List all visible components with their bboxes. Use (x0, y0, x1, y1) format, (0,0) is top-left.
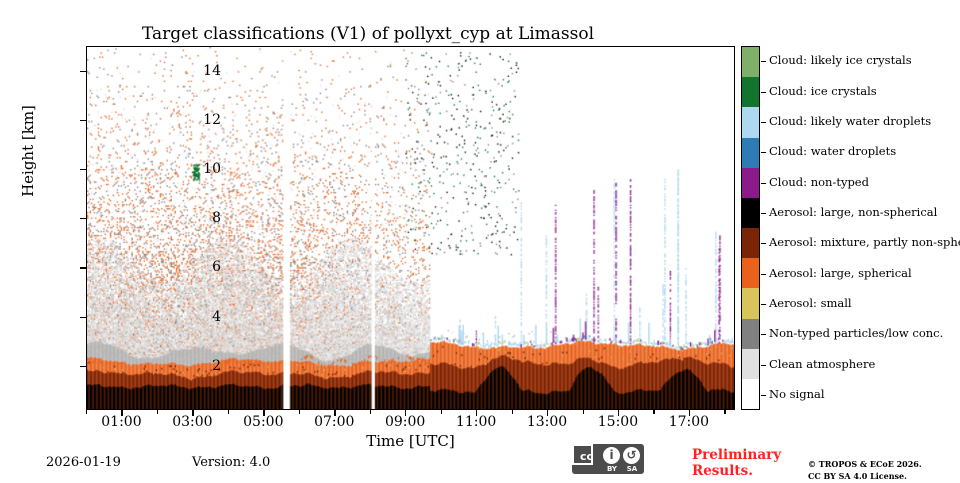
colorbar-segment-11 (742, 379, 759, 409)
cc-by-glyph: i (603, 447, 620, 464)
footer-version: Version: 4.0 (192, 455, 270, 470)
copyright-line-1: © TROPOS & ECoE 2026. (808, 458, 958, 470)
legend-label-0: Cloud: likely ice crystals (769, 55, 912, 67)
y-axis-label: Height [km] (19, 71, 37, 231)
y-tick-mark-14 (80, 71, 86, 72)
cc-sa-label: SA (622, 465, 642, 473)
x-tick-mark-4 (405, 410, 406, 416)
colorbar-segment-5 (742, 198, 759, 228)
colorbar-segment-3 (742, 138, 759, 168)
legend-label-7: Aerosol: large, spherical (769, 268, 912, 280)
legend-label-9: Non-typed particles/low conc. (769, 328, 943, 340)
classification-colorbar (741, 46, 760, 410)
y-tick-mark-6 (80, 267, 86, 268)
x-tick-label-0300: 03:00 (162, 414, 222, 430)
x-tick-minor-12 (512, 410, 513, 414)
legend-label-1: Cloud: ice crystals (769, 86, 877, 98)
x-tick-minor-6 (299, 410, 300, 414)
colorbar-tick-0 (761, 61, 766, 62)
cc-logo-label: cc (576, 451, 597, 462)
x-tick-mark-1 (192, 410, 193, 416)
x-tick-minor-14 (583, 410, 584, 414)
x-tick-label-1500: 15:00 (588, 414, 648, 430)
x-tick-mark-5 (476, 410, 477, 416)
y-tick-label-4: 4 (181, 310, 221, 324)
legend-label-2: Cloud: likely water droplets (769, 116, 931, 128)
y-tick-mark-2 (80, 366, 86, 367)
y-tick-mark-10 (80, 169, 86, 170)
cc-by-label: BY (602, 465, 622, 473)
y-tick-label-14: 14 (181, 64, 221, 78)
legend-label-6: Aerosol: mixture, partly non-spherical (769, 237, 960, 249)
x-tick-mark-3 (334, 410, 335, 416)
colorbar-segment-8 (742, 288, 759, 318)
x-tick-minor-8 (370, 410, 371, 414)
legend-label-5: Aerosol: large, non-spherical (769, 207, 937, 219)
x-tick-label-0700: 07:00 (304, 414, 364, 430)
x-tick-minor-10 (441, 410, 442, 414)
x-tick-minor-0 (86, 410, 87, 414)
colorbar-segment-6 (742, 228, 759, 258)
colorbar-segment-0 (742, 47, 759, 77)
footer-date: 2026-01-19 (46, 455, 121, 470)
target-classification-heatmap (87, 47, 734, 409)
colorbar-segment-1 (742, 77, 759, 107)
x-tick-label-0100: 01:00 (91, 414, 151, 430)
x-tick-mark-2 (263, 410, 264, 416)
x-tick-mark-6 (547, 410, 548, 416)
x-tick-minor-18 (724, 410, 725, 414)
cc-sa-glyph: ↺ (623, 447, 640, 464)
y-tick-label-10: 10 (181, 162, 221, 176)
colorbar-tick-11 (761, 395, 766, 396)
colorbar-tick-3 (761, 152, 766, 153)
colorbar-segment-4 (742, 168, 759, 198)
x-tick-mark-8 (689, 410, 690, 416)
y-tick-label-6: 6 (181, 260, 221, 274)
colorbar-tick-4 (761, 183, 766, 184)
colorbar-tick-6 (761, 243, 766, 244)
preliminary-line-1: Preliminary (692, 448, 802, 464)
y-tick-label-8: 8 (181, 211, 221, 225)
legend-label-3: Cloud: water droplets (769, 146, 896, 158)
preliminary-results-notice: Preliminary Results. (692, 448, 802, 479)
colorbar-tick-10 (761, 365, 766, 366)
x-tick-label-0500: 05:00 (233, 414, 293, 430)
y-tick-mark-12 (80, 120, 86, 121)
plot-axes-frame (86, 46, 735, 410)
legend-label-4: Cloud: non-typed (769, 177, 869, 189)
copyright-line-2: CC BY SA 4.0 License. (808, 470, 958, 482)
colorbar-tick-2 (761, 122, 766, 123)
creative-commons-license-badge[interactable]: cc i ↺ BY SA (572, 444, 644, 474)
x-tick-label-0900: 09:00 (375, 414, 435, 430)
colorbar-tick-7 (761, 274, 766, 275)
x-tick-label-1300: 13:00 (517, 414, 577, 430)
y-tick-mark-8 (80, 218, 86, 219)
legend-label-10: Clean atmosphere (769, 359, 875, 371)
x-tick-minor-2 (157, 410, 158, 414)
colorbar-segment-9 (742, 319, 759, 349)
y-tick-mark-4 (80, 317, 86, 318)
copyright-notice: © TROPOS & ECoE 2026. CC BY SA 4.0 Licen… (808, 458, 958, 483)
legend-label-8: Aerosol: small (769, 298, 852, 310)
colorbar-tick-5 (761, 213, 766, 214)
colorbar-segment-10 (742, 349, 759, 379)
colorbar-segment-7 (742, 258, 759, 288)
preliminary-line-2: Results. (692, 464, 802, 480)
y-tick-label-12: 12 (181, 113, 221, 127)
x-tick-minor-16 (653, 410, 654, 414)
x-tick-label-1100: 11:00 (446, 414, 506, 430)
colorbar-tick-8 (761, 304, 766, 305)
x-tick-label-1700: 17:00 (659, 414, 719, 430)
colorbar-tick-9 (761, 334, 766, 335)
x-tick-mark-0 (121, 410, 122, 416)
legend-label-11: No signal (769, 389, 825, 401)
page-title: Target classifications (V1) of pollyxt_c… (0, 24, 736, 44)
colorbar-segment-2 (742, 107, 759, 137)
x-tick-mark-7 (618, 410, 619, 416)
y-tick-label-2: 2 (181, 359, 221, 373)
x-tick-minor-4 (228, 410, 229, 414)
colorbar-tick-1 (761, 92, 766, 93)
